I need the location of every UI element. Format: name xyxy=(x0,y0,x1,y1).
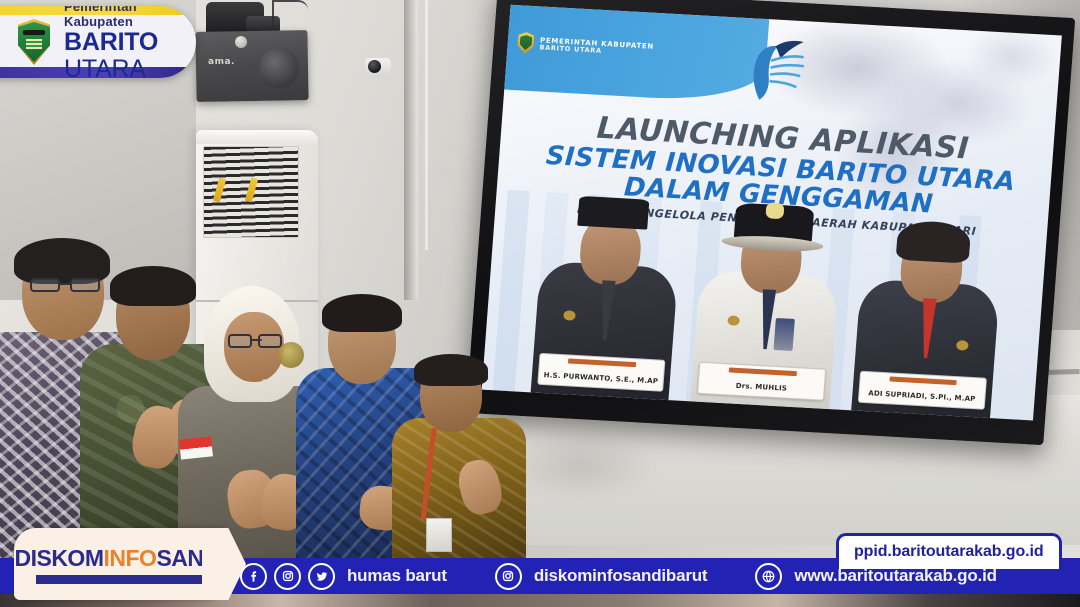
coat-of-arms-icon xyxy=(517,32,535,55)
social-handle-humas-barut: humas barut xyxy=(347,566,447,586)
projector-cables xyxy=(272,0,308,34)
facebook-icon[interactable] xyxy=(240,563,267,590)
eyeglasses-icon xyxy=(228,334,282,348)
barito-utara-coat-of-arms-icon xyxy=(18,19,50,65)
audience-group: POLRI xyxy=(0,240,540,560)
portrait-official-center: Drs. MUHLIS xyxy=(685,201,851,410)
badge-text: Pemerintah Kabupaten BARITO UTARA xyxy=(64,6,196,78)
badge-line1: Pemerintah Kabupaten xyxy=(64,6,196,29)
badge-line2: BARITO UTARA xyxy=(64,29,196,78)
social-handle-instagram: diskominfosandibarut xyxy=(534,566,708,586)
badge-line2-bold: BARITO xyxy=(64,28,158,56)
globe-icon[interactable] xyxy=(755,563,782,590)
police-uniform-patch: POLRI xyxy=(262,378,295,388)
twitter-icon[interactable] xyxy=(308,563,335,590)
nameplate-text: ADI SUPRIADI, S.PI., M.AP xyxy=(868,389,976,403)
diskominfosandi-logo: DISKOMINFOSANDI xyxy=(14,528,226,600)
social-group-humas-barut[interactable]: humas barut xyxy=(240,563,447,590)
speaker-brand-label: ama. xyxy=(208,57,235,67)
screenshot-root: ama. PEMERINTAH KABUPATEN BARITO UTARA xyxy=(0,0,1080,607)
portrait-insignia-icon xyxy=(563,310,576,321)
nameplate-rank-bar xyxy=(889,376,957,385)
portrait-medal-ribbon xyxy=(773,318,795,351)
instagram-icon[interactable] xyxy=(274,563,301,590)
instagram-icon[interactable] xyxy=(495,563,522,590)
nameplate-text: Drs. MUHLIS xyxy=(735,382,787,393)
website-url-label: www.baritoutarakab.go.id xyxy=(794,566,996,586)
speaker-knob xyxy=(235,36,247,48)
slide-kop-text: PEMERINTAH KABUPATEN BARITO UTARA xyxy=(539,36,654,58)
nameplate-text: H.S. PURWANTO, S.E., M.AP xyxy=(543,371,658,385)
diskominfosandi-wordmark: DISKOMINFOSANDI xyxy=(14,545,225,572)
cctv-lens-icon xyxy=(368,60,381,73)
ac-top-cover xyxy=(196,130,318,144)
garuda-emblem-icon xyxy=(765,203,784,220)
social-group-website[interactable]: www.baritoutarakab.go.id xyxy=(755,563,996,590)
slide-portraits: H.S. PURWANTO, S.E., M.AP Drs. MUHLIS xyxy=(509,191,1026,419)
indonesia-flag-patch-icon xyxy=(179,436,213,459)
wall-mounted-display: PEMERINTAH KABUPATEN BARITO UTARA xyxy=(466,0,1075,445)
brand-part3: SANDI xyxy=(156,545,225,571)
nameplate-rank-bar xyxy=(568,358,636,367)
attendee-hair xyxy=(414,354,488,386)
speaker-cone xyxy=(259,48,299,88)
presentation-slide: PEMERINTAH KABUPATEN BARITO UTARA xyxy=(482,5,1062,421)
badge-line2-light: UTARA xyxy=(64,55,146,78)
social-group-instagram[interactable]: diskominfosandibarut xyxy=(495,563,708,590)
peci-cap-icon xyxy=(578,196,649,230)
inovasi-hand-bird-logo-icon xyxy=(725,32,810,104)
portrait-insignia-icon xyxy=(956,340,969,351)
brand-part2: INFO xyxy=(103,545,156,571)
portrait-official-left: H.S. PURWANTO, S.E., M.AP xyxy=(524,192,690,401)
nameplate-rank-bar xyxy=(729,367,797,376)
attendee-batik-gold xyxy=(396,310,512,560)
diskominfosandi-underline xyxy=(36,575,204,584)
id-card xyxy=(426,518,452,552)
portrait-official-right: ADI SUPRIADI, S.PI., M.AP xyxy=(845,210,1011,419)
portrait-hair xyxy=(896,220,971,264)
footer-social-strip: humas barut diskominfosandibarut www.bar… xyxy=(240,558,1074,594)
attendee-hair xyxy=(322,294,402,332)
brand-part1: DISKOM xyxy=(14,545,103,571)
portrait-insignia-icon xyxy=(727,315,740,326)
government-logo-badge: Pemerintah Kabupaten BARITO UTARA xyxy=(0,6,196,78)
wall-seam xyxy=(425,0,428,250)
